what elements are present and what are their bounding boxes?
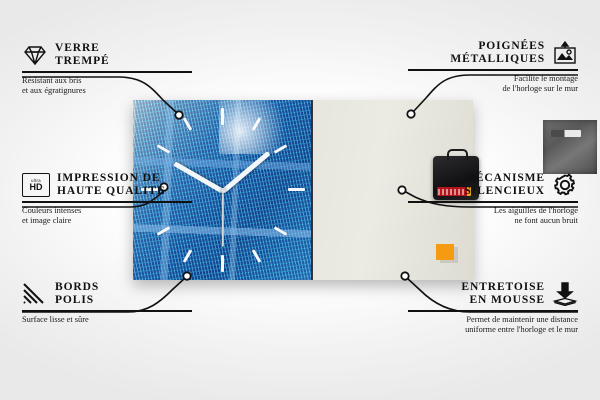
feature-header: POIGNÉES MÉTALLIQUES (408, 40, 578, 66)
feature-rule (408, 310, 578, 312)
feature-poignees-metalliques: POIGNÉES MÉTALLIQUES Facilite le montage… (408, 40, 578, 94)
feature-description: Couleurs intenses et image claire (22, 206, 192, 227)
feature-title: BORDS POLIS (55, 281, 99, 307)
feature-header: ultra HD IMPRESSION DE HAUTE QUALITÉ (22, 172, 192, 198)
feature-description: Facilite le montage de l'horloge sur le … (408, 74, 578, 95)
clock-tick (274, 226, 288, 236)
feature-header: VERRE TREMPÉ (22, 42, 192, 68)
clock-second-hand (222, 191, 224, 247)
clock-tick (221, 255, 224, 272)
feature-verre-trempe: VERRE TREMPÉ Résistant aux bris et aux é… (22, 42, 192, 96)
clock-hand-hub (221, 188, 226, 193)
feature-title: IMPRESSION DE HAUTE QUALITÉ (57, 172, 166, 198)
feature-header: MÉCANISME SILENCIEUX (408, 172, 578, 198)
feature-description: Résistant aux bris et aux égratignures (22, 76, 192, 97)
feature-entretoise-en-mousse: ENTRETOISE EN MOUSSE Permet de maintenir… (408, 281, 578, 335)
clock-tick (252, 249, 262, 263)
ultra-hd-icon-large-text: HD (30, 183, 43, 192)
arrow-down-tray-icon (552, 282, 578, 306)
clock-tick (157, 144, 171, 154)
diamond-icon (22, 43, 48, 67)
clock-tick (274, 144, 288, 154)
movement-hanging-hook (447, 149, 468, 160)
feature-header: BORDS POLIS (22, 281, 192, 307)
feature-header: ENTRETOISE EN MOUSSE (408, 281, 578, 307)
ultra-hd-icon: ultra HD (22, 173, 50, 197)
feature-rule (22, 71, 192, 73)
clock-tick (288, 188, 305, 191)
feature-title: POIGNÉES MÉTALLIQUES (450, 40, 545, 66)
metal-hanger-plate (543, 120, 597, 174)
feature-description: Permet de maintenir une distance uniform… (408, 315, 578, 336)
feature-impression-haute-qualite: ultra HD IMPRESSION DE HAUTE QUALITÉ Cou… (22, 172, 192, 226)
infographic-stage: VERRE TREMPÉ Résistant aux bris et aux é… (0, 0, 600, 400)
clock-tick (221, 108, 224, 125)
clock-tick (183, 117, 193, 131)
foam-spacer (436, 244, 454, 260)
clock-minute-hand (221, 151, 270, 193)
gear-icon (552, 173, 578, 197)
clock-tick (252, 117, 262, 131)
feature-description: Les aiguilles de l'horloge ne font aucun… (408, 206, 578, 227)
feature-description: Surface lisse et sûre (22, 315, 192, 325)
feature-title: ENTRETOISE EN MOUSSE (461, 281, 545, 307)
clock-tick (157, 226, 171, 236)
feature-bords-polis: BORDS POLIS Surface lisse et sûre (22, 281, 192, 325)
feature-rule (22, 310, 192, 312)
feature-rule (408, 69, 578, 71)
diagonal-lines-icon (22, 282, 48, 306)
hanger-slot (551, 130, 581, 137)
feature-title: MÉCANISME SILENCIEUX (464, 172, 545, 198)
framed-picture-hanger-icon (552, 41, 578, 65)
feature-mecanisme-silencieux: MÉCANISME SILENCIEUX Les aiguilles de l'… (408, 172, 578, 226)
feature-rule (22, 201, 192, 203)
clock-tick (183, 249, 193, 263)
feature-title: VERRE TREMPÉ (55, 42, 110, 68)
feature-rule (408, 201, 578, 203)
